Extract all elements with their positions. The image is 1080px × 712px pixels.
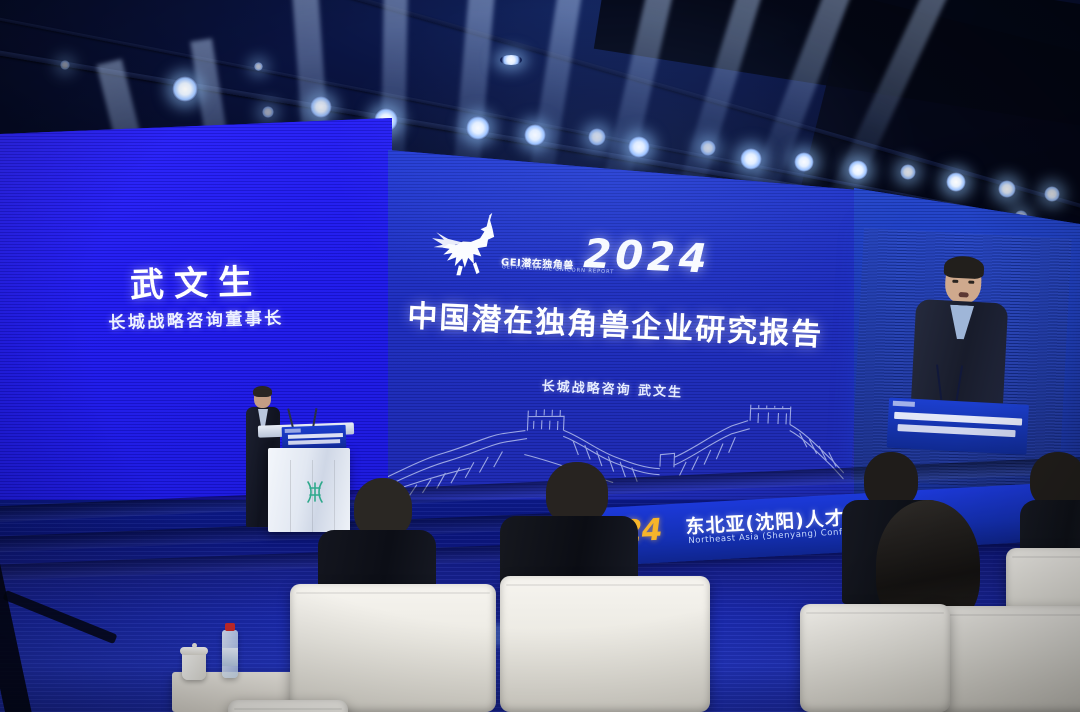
stage-light-fixture bbox=[998, 180, 1016, 198]
gei-unicorn-logo: GEI潜在独角兽 GEI POTENTIAL UNICORN REPORT bbox=[428, 210, 581, 283]
video-speaker-figure bbox=[911, 257, 1011, 412]
stage-light-fixture bbox=[60, 60, 70, 70]
armchair-seat-1 bbox=[290, 584, 496, 712]
stage-light-fixture bbox=[946, 172, 966, 192]
water-bottle-label bbox=[222, 648, 238, 666]
teacup-lid bbox=[180, 647, 208, 655]
podium-sign-badge bbox=[285, 428, 301, 433]
podium-sign-line2 bbox=[288, 439, 340, 445]
stage-light-fixture bbox=[254, 62, 263, 71]
stage-light-fixture bbox=[848, 160, 868, 180]
video-speaker-eye-right bbox=[968, 281, 974, 284]
stage-light-fixture bbox=[172, 76, 198, 102]
video-speaker-hair bbox=[944, 255, 985, 279]
stage-light-fixture bbox=[628, 136, 650, 158]
stage-light-fixture bbox=[524, 124, 546, 146]
stage-speaker-hair bbox=[253, 386, 272, 397]
water-bottle bbox=[222, 630, 238, 678]
water-bottle-cap bbox=[225, 623, 235, 631]
video-podium-badge bbox=[893, 401, 915, 407]
armchair-far-left bbox=[228, 700, 348, 712]
stage-light-fixture bbox=[466, 116, 490, 140]
video-podium-sign-line1 bbox=[894, 412, 1022, 426]
stage-light-fixture bbox=[310, 96, 332, 118]
year-text: 2024 bbox=[582, 231, 711, 283]
teacup bbox=[182, 652, 206, 680]
report-title-text: 中国潜在独角兽企业研究报告 bbox=[388, 290, 851, 355]
video-podium-sign-line2 bbox=[897, 424, 1015, 437]
video-speaker-eye-left bbox=[952, 280, 958, 283]
conference-photo-scene: 武文生 长城战略咨询董事长 GEI潜在独角兽 GEI POTENTIAL UNI… bbox=[0, 0, 1080, 712]
stage-light-fixture bbox=[588, 128, 606, 146]
attendee-2-head bbox=[546, 462, 608, 524]
stage-light-fixture bbox=[262, 106, 274, 118]
stage-light-fixture bbox=[700, 140, 716, 156]
armchair-seat-5 bbox=[800, 604, 950, 712]
armchair-seat-2 bbox=[500, 576, 710, 712]
attendee-1-head bbox=[354, 478, 412, 538]
stage-light-fixture bbox=[794, 152, 814, 172]
video-podium bbox=[887, 398, 1029, 455]
video-speaker-mouth bbox=[959, 292, 969, 298]
stage-light-fixture bbox=[740, 148, 762, 170]
stage-light-fixture bbox=[1044, 186, 1060, 202]
teacup-knob bbox=[192, 643, 197, 648]
stage-light-fixture bbox=[500, 55, 522, 65]
podium-sign-line1 bbox=[288, 433, 343, 439]
stage-light-fixture bbox=[900, 164, 916, 180]
